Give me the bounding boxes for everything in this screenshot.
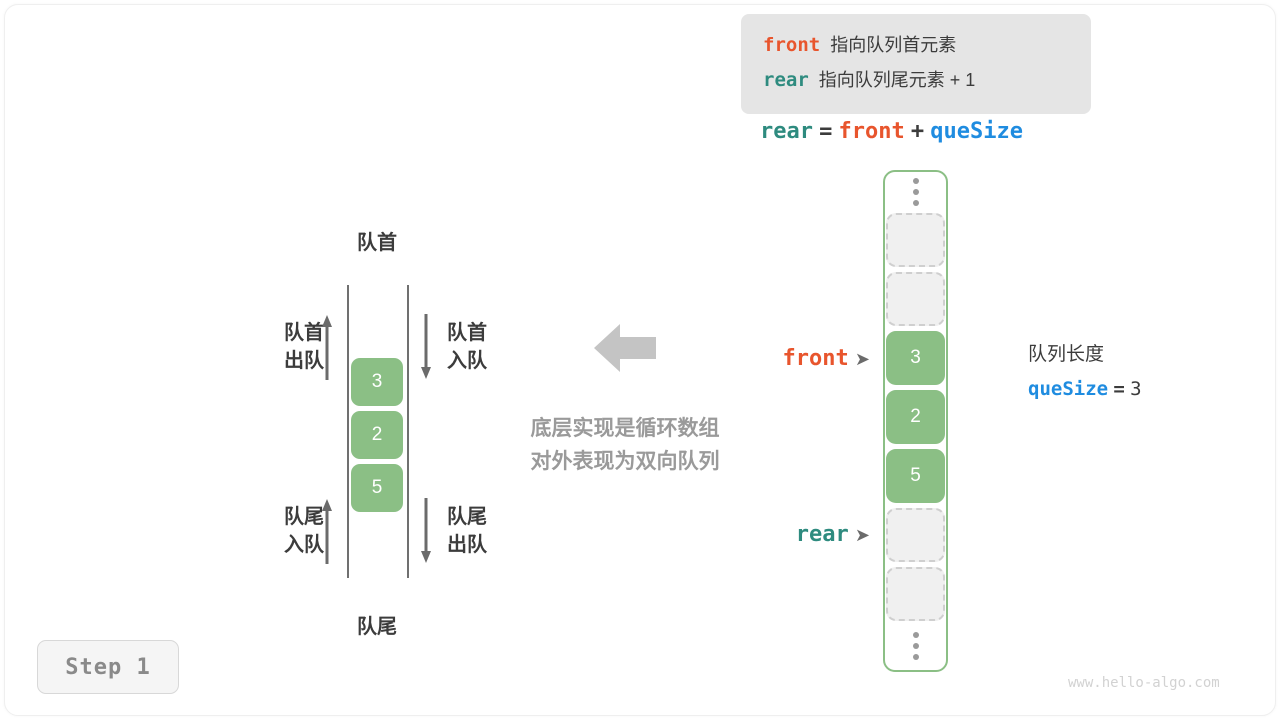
implementation-note: 底层实现是循环数组 对外表现为双向队列: [500, 412, 750, 478]
deque-rear-title: 队尾: [347, 610, 407, 639]
formula-equals: =: [819, 119, 832, 144]
deque-cell: 2: [351, 411, 403, 459]
deque-cell: 3: [351, 358, 403, 406]
array-ellipsis-bottom-icon: [886, 632, 945, 660]
legend-line-front: front 指向队列首元素: [763, 28, 1091, 63]
site-watermark: www.hello-algo.com: [1068, 675, 1220, 691]
pointer-formula: rear = front + queSize: [760, 118, 1023, 144]
legend-rear-text: 指向队列尾元素 + 1: [819, 70, 976, 90]
array-slot: [886, 567, 945, 621]
rear-pointer-label: rear ➤: [700, 521, 870, 547]
array-slot: [886, 272, 945, 326]
formula-quesize: queSize: [930, 119, 1023, 144]
quesize-variable: queSize: [1028, 378, 1108, 400]
diagram-canvas: front 指向队列首元素 rear 指向队列尾元素 + 1 rear = fr…: [0, 0, 1280, 720]
formula-front: front: [838, 119, 904, 144]
array-slot: [886, 508, 945, 562]
front-pointer-label: front ➤: [700, 345, 870, 371]
formula-rear: rear: [760, 119, 813, 144]
queue-size-caption: 队列长度: [1028, 338, 1142, 372]
implementation-note-line2: 对外表现为双向队列: [500, 445, 750, 478]
label-front-dequeue-line2: 出队: [248, 347, 324, 375]
label-rear-dequeue-line1: 队尾: [447, 503, 487, 531]
array-slot: 2: [886, 390, 945, 444]
quesize-equals: =: [1113, 378, 1124, 400]
array-slot: 5: [886, 449, 945, 503]
array-slot: [886, 213, 945, 267]
implementation-note-line1: 底层实现是循环数组: [500, 412, 750, 445]
arrow-down-front-enqueue-icon: [419, 314, 433, 380]
label-rear-enqueue-line2: 入队: [248, 531, 324, 559]
label-front-enqueue-line1: 队首: [447, 319, 487, 347]
label-front-dequeue-line1: 队首: [248, 319, 324, 347]
legend-front-keyword: front: [763, 34, 820, 56]
mapping-arrow-icon: [594, 322, 656, 379]
arrow-down-rear-dequeue-icon: [419, 498, 433, 564]
front-pointer-arrow-icon: ➤: [855, 349, 870, 369]
queue-size-note: 队列长度 queSize = 3: [1028, 338, 1142, 407]
arrow-up-rear-enqueue-icon: [320, 498, 334, 564]
rear-pointer-text: rear: [796, 522, 849, 547]
step-badge: Step 1: [37, 640, 179, 694]
label-front-enqueue: 队首 入队: [447, 319, 487, 375]
label-rear-dequeue: 队尾 出队: [447, 503, 487, 559]
queue-size-expression: queSize = 3: [1028, 372, 1142, 407]
label-front-enqueue-line2: 入队: [447, 347, 487, 375]
array-ellipsis-top-icon: [886, 178, 945, 206]
deque-rail-right: [407, 285, 409, 578]
formula-plus: +: [911, 119, 924, 144]
label-rear-enqueue-line1: 队尾: [248, 503, 324, 531]
legend-rear-keyword: rear: [763, 69, 809, 91]
quesize-value: 3: [1130, 378, 1141, 400]
array-slot: 3: [886, 331, 945, 385]
label-rear-enqueue: 队尾 入队: [248, 503, 324, 559]
label-rear-dequeue-line2: 出队: [447, 531, 487, 559]
legend-line-rear: rear 指向队列尾元素 + 1: [763, 63, 1091, 98]
deque-rail-left: [347, 285, 349, 578]
legend-front-text: 指向队列首元素: [830, 35, 956, 55]
pointer-legend-box: front 指向队列首元素 rear 指向队列尾元素 + 1: [741, 14, 1091, 114]
deque-cell: 5: [351, 464, 403, 512]
rear-pointer-arrow-icon: ➤: [855, 525, 870, 545]
label-front-dequeue: 队首 出队: [248, 319, 324, 375]
front-pointer-text: front: [783, 346, 849, 371]
deque-front-title: 队首: [347, 226, 407, 255]
arrow-up-front-dequeue-icon: [320, 314, 334, 380]
